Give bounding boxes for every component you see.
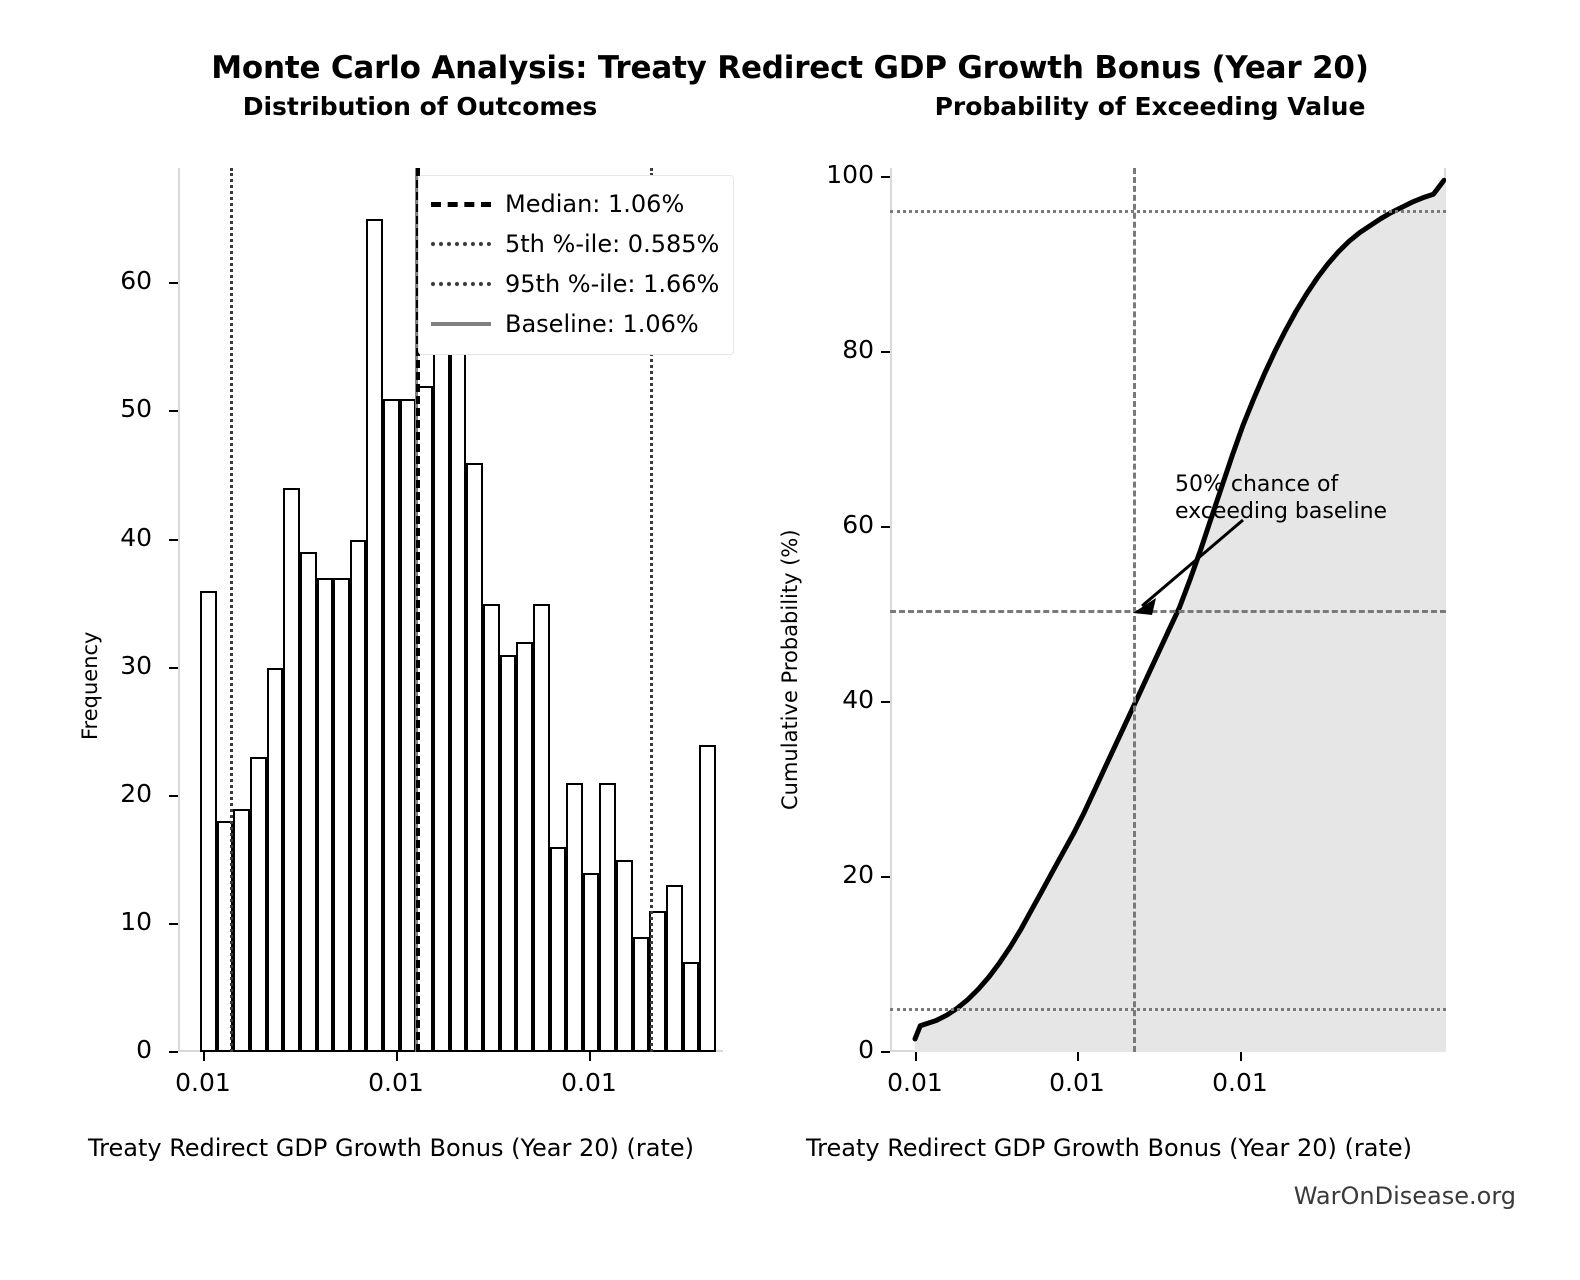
hist-y-tick-label: 40 — [60, 523, 152, 552]
histogram-bar — [250, 757, 267, 1052]
histogram-bar — [533, 604, 550, 1052]
cdf-x-tick-label: 0.01 — [1007, 1068, 1147, 1097]
legend-key-solid — [431, 322, 491, 326]
histogram-bar — [516, 642, 533, 1052]
hist-x-tick-label: 0.01 — [326, 1068, 466, 1097]
histogram-bar — [267, 668, 284, 1052]
hist-y-tick — [169, 795, 178, 797]
cdf-y-tick-label: 20 — [760, 860, 874, 889]
hist-y-tick-label: 10 — [60, 907, 152, 936]
legend-label: Median: 1.06% — [505, 190, 684, 218]
histogram-bar — [283, 488, 300, 1052]
histogram-bar — [200, 591, 217, 1052]
left-panel-title: Distribution of Outcomes — [90, 92, 750, 121]
histogram-bar — [583, 873, 600, 1052]
cdf-axes — [890, 168, 1446, 1052]
histogram-bar — [366, 219, 383, 1052]
histogram-bar — [400, 399, 417, 1052]
legend-label: 5th %-ile: 0.585% — [505, 230, 719, 258]
histogram-bar — [450, 309, 467, 1052]
hist-y-tick — [169, 667, 178, 669]
cdf-x-tick — [1240, 1052, 1242, 1061]
cdf-x-tick — [915, 1052, 917, 1061]
right-panel-title: Probability of Exceeding Value — [790, 92, 1510, 121]
histogram-bar — [666, 885, 683, 1052]
cdf-y-tick — [881, 176, 890, 178]
histogram-bar — [616, 860, 633, 1052]
footer-watermark: WarOnDisease.org — [1294, 1182, 1516, 1210]
legend-row: Baseline: 1.06% — [431, 304, 719, 344]
histogram-bar — [466, 463, 483, 1052]
figure-canvas: Monte Carlo Analysis: Treaty Redirect GD… — [0, 0, 1580, 1280]
cdf-y-axis-label: Cumulative Probability (%) — [778, 529, 802, 810]
cdf-y-tick-label: 100 — [760, 160, 874, 189]
cdf-y-tick — [881, 526, 890, 528]
histogram-bar — [317, 578, 334, 1052]
histogram-legend: Median: 1.06%5th %-ile: 0.585%95th %-ile… — [418, 175, 734, 355]
hist-left-spine — [178, 168, 180, 1052]
histogram-bar — [699, 745, 716, 1052]
hist-x-tick-label: 0.01 — [133, 1068, 273, 1097]
cdf-annotation-arrow — [890, 168, 1446, 1052]
hist-y-tick-label: 60 — [60, 266, 152, 295]
hist-y-tick — [169, 1051, 178, 1053]
hist-x-axis-label: Treaty Redirect GDP Growth Bonus (Year 2… — [88, 1134, 694, 1162]
histogram-bar — [383, 399, 400, 1052]
hist-y-tick — [169, 923, 178, 925]
legend-row: 95th %-ile: 1.66% — [431, 264, 719, 304]
hist-y-tick — [169, 282, 178, 284]
histogram-bar — [599, 783, 616, 1052]
cdf-x-axis-label: Treaty Redirect GDP Growth Bonus (Year 2… — [806, 1134, 1412, 1162]
hist-p5-line — [230, 168, 233, 1052]
hist-y-tick — [169, 410, 178, 412]
hist-y-tick — [169, 539, 178, 541]
cdf-y-tick — [881, 1051, 890, 1053]
hist-y-tick-label: 50 — [60, 394, 152, 423]
hist-y-axis-label: Frequency — [78, 632, 102, 741]
legend-key-dot — [431, 242, 491, 246]
histogram-bar — [300, 552, 317, 1052]
legend-label: Baseline: 1.06% — [505, 310, 699, 338]
cdf-y-tick — [881, 876, 890, 878]
histogram-bar — [500, 655, 517, 1052]
figure-suptitle: Monte Carlo Analysis: Treaty Redirect GD… — [0, 50, 1580, 86]
hist-x-tick — [589, 1052, 591, 1061]
hist-y-tick-label: 20 — [60, 779, 152, 808]
histogram-bar — [566, 783, 583, 1052]
legend-key-dot — [431, 282, 491, 286]
hist-y-tick-label: 30 — [60, 651, 152, 680]
legend-key-dash — [431, 202, 491, 207]
legend-label: 95th %-ile: 1.66% — [505, 270, 719, 298]
cdf-y-tick-label: 0 — [760, 1035, 874, 1064]
hist-x-tick-label: 0.01 — [519, 1068, 659, 1097]
cdf-x-tick-label: 0.01 — [845, 1068, 985, 1097]
histogram-bar — [550, 847, 567, 1052]
legend-row: Median: 1.06% — [431, 184, 719, 224]
cdf-x-tick — [1077, 1052, 1079, 1061]
histogram-bar — [483, 604, 500, 1052]
hist-x-tick — [203, 1052, 205, 1061]
cdf-annotation-text: 50% chance of exceeding baseline — [1175, 472, 1387, 526]
hist-x-tick — [396, 1052, 398, 1061]
histogram-bar — [333, 578, 350, 1052]
histogram-bar — [350, 540, 367, 1052]
cdf-x-tick-label: 0.01 — [1170, 1068, 1310, 1097]
cdf-y-tick — [881, 701, 890, 703]
legend-row: 5th %-ile: 0.585% — [431, 224, 719, 264]
cdf-y-tick — [881, 351, 890, 353]
histogram-bar — [633, 937, 650, 1052]
histogram-bar — [233, 809, 250, 1052]
cdf-y-tick-label: 80 — [760, 335, 874, 364]
histogram-bar — [683, 962, 700, 1052]
hist-y-tick-label: 0 — [60, 1035, 152, 1064]
